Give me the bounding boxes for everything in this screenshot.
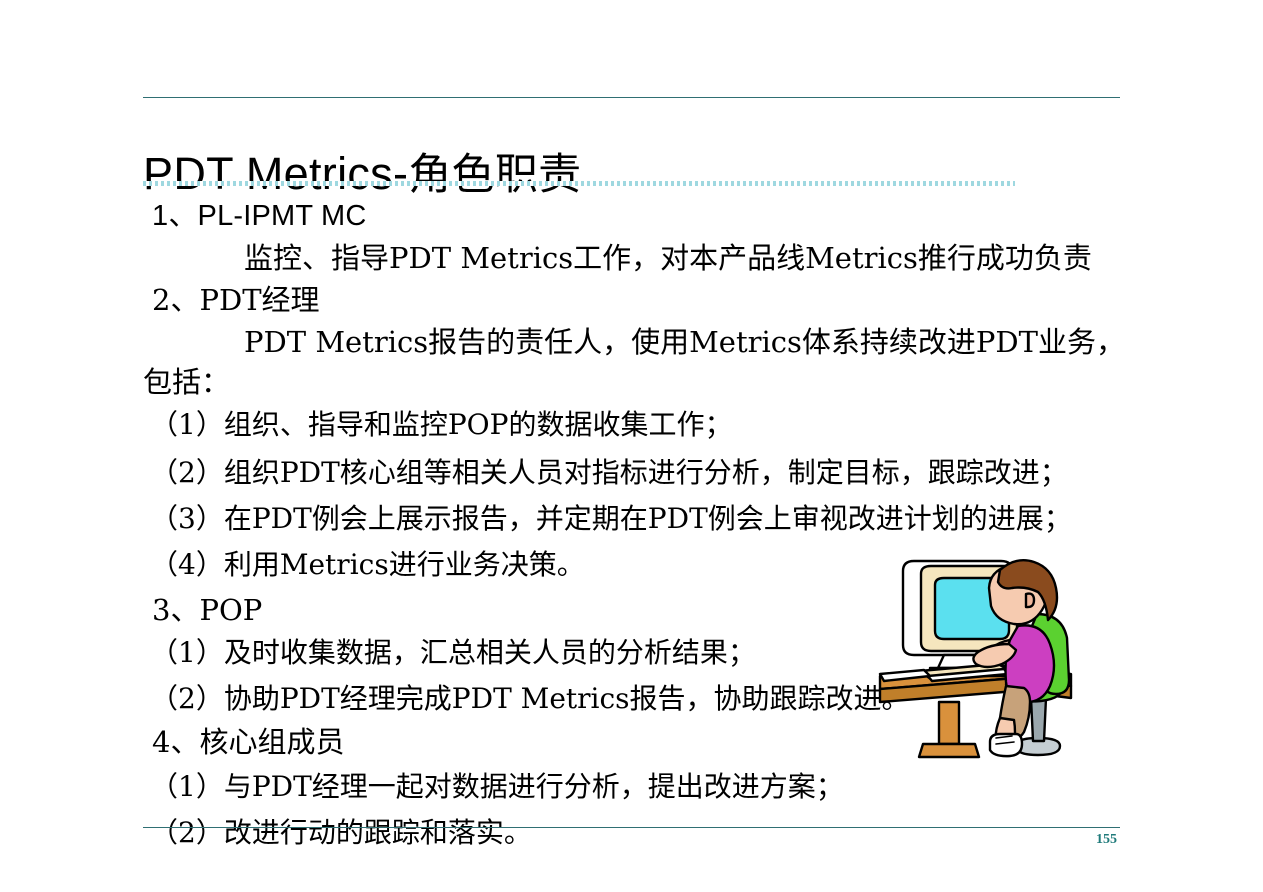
list-item: （2）组织PDT核心组等相关人员对指标进行分析，制定目标，跟踪改进； (0, 451, 1263, 495)
slide-canvas: PDT Metrics-角色职责 1、PL-IPMT MC 监控、指导PDT M… (0, 0, 1263, 892)
section-1-body: 监控、指导PDT Metrics工作，对本产品线Metrics推行成功负责 (0, 237, 1263, 279)
page-title: PDT Metrics-角色职责 (143, 146, 1043, 203)
page-title-latin: PDT Metrics- (143, 148, 408, 199)
page-number: 155 (1096, 832, 1136, 848)
footer-rule (143, 827, 1120, 828)
page-title-cjk: 角色职责 (408, 150, 581, 200)
section-2-body-continuation: 包括： (0, 363, 1263, 401)
section-2-body: PDT Metrics报告的责任人，使用Metrics体系持续改进PDT业务， (0, 321, 1263, 363)
list-item: （3）在PDT例会上展示报告，并定期在PDT例会上审视改进计划的进展； (0, 497, 1263, 541)
section-2-heading: 2、PDT经理 (0, 281, 1263, 319)
header-rule (143, 97, 1120, 98)
list-item: （1）组织、指导和监控POP的数据收集工作； (0, 403, 1263, 447)
section-1-heading: 1、PL-IPMT MC (0, 196, 1263, 235)
title-dotted-separator (143, 181, 1015, 186)
list-item: （2）改进行动的跟踪和落实。 (0, 811, 1263, 855)
boy-at-computer-clipart (866, 552, 1082, 778)
